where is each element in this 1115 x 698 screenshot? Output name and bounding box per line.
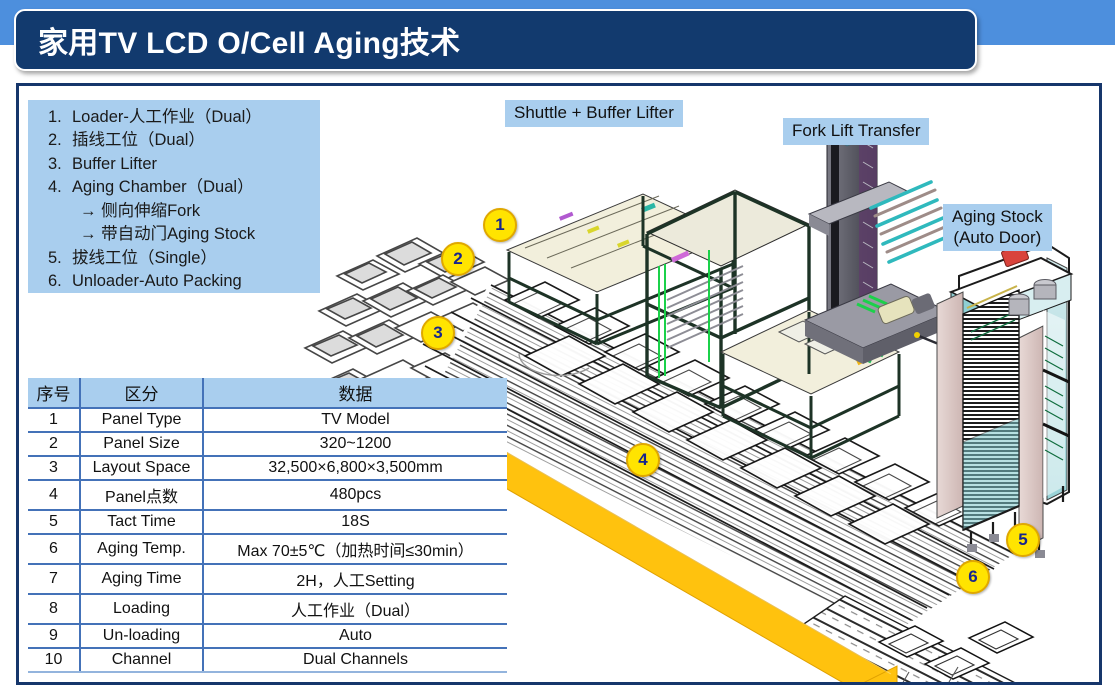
table-row: 1 Panel Type TV Model <box>28 408 507 432</box>
list-subitem: → 带自动门Aging Stock <box>28 223 320 246</box>
list-item-label: 拔线工位（Single） <box>72 247 217 270</box>
table-row: 3 Layout Space 32,500×6,800×3,500mm <box>28 456 507 480</box>
callout-shuttle-buffer-lifter: Shuttle + Buffer Lifter <box>505 100 683 127</box>
cell-no: 10 <box>28 648 80 672</box>
step-marker-1: 1 <box>483 208 517 242</box>
list-item-label: 插线工位（Dual） <box>72 129 205 152</box>
step-marker-5: 5 <box>1006 523 1040 557</box>
list-item: 2. 插线工位（Dual） <box>28 129 320 152</box>
cell-div: Loading <box>80 594 203 624</box>
cell-div: Panel Type <box>80 408 203 432</box>
cell-no: 5 <box>28 510 80 534</box>
cell-no: 4 <box>28 480 80 510</box>
table-header-row: 序号 区分 数据 <box>28 378 507 408</box>
cell-data: 480pcs <box>203 480 507 510</box>
table-row: 7 Aging Time 2H，人工Setting <box>28 564 507 594</box>
cell-div: Layout Space <box>80 456 203 480</box>
list-item: 6. Unloader-Auto Packing <box>28 270 320 293</box>
cell-div: Un-loading <box>80 624 203 648</box>
cell-no: 3 <box>28 456 80 480</box>
slide-title-bar: 家用TV LCD O/Cell Aging技术 <box>14 9 977 71</box>
list-subitem: → 侧向伸缩Fork <box>28 200 320 223</box>
cell-no: 7 <box>28 564 80 594</box>
cell-data: TV Model <box>203 408 507 432</box>
cell-data: 人工作业（Dual） <box>203 594 507 624</box>
column-header-data: 数据 <box>203 378 507 408</box>
page-title: 家用TV LCD O/Cell Aging技术 <box>38 18 460 62</box>
table-row: 9 Un-loading Auto <box>28 624 507 648</box>
slide-content-frame: 1. Loader-人工作业（Dual） 2. 插线工位（Dual） 3. Bu… <box>16 83 1102 685</box>
table-row: 5 Tact Time 18S <box>28 510 507 534</box>
step-marker-4: 4 <box>626 443 660 477</box>
cell-data: Max 70±5℃（加热时间≤30min） <box>203 534 507 564</box>
cell-data: 320~1200 <box>203 432 507 456</box>
cell-no: 9 <box>28 624 80 648</box>
table-row: 10 Channel Dual Channels <box>28 648 507 672</box>
list-item-number: 4. <box>48 176 72 199</box>
cell-data: 18S <box>203 510 507 534</box>
cell-no: 2 <box>28 432 80 456</box>
step-marker-6: 6 <box>956 560 990 594</box>
list-item-label: Buffer Lifter <box>72 153 157 176</box>
list-item: 5. 拔线工位（Single） <box>28 247 320 270</box>
list-item-number: 2. <box>48 129 72 152</box>
cell-data: Dual Channels <box>203 648 507 672</box>
cell-div: Panel点数 <box>80 480 203 510</box>
cell-data: 2H，人工Setting <box>203 564 507 594</box>
table-row: 8 Loading 人工作业（Dual） <box>28 594 507 624</box>
cell-div: Channel <box>80 648 203 672</box>
list-item: 4. Aging Chamber（Dual） <box>28 176 320 199</box>
list-item: 1. Loader-人工作业（Dual） <box>28 106 320 129</box>
column-header-no: 序号 <box>28 378 80 408</box>
cell-div: Tact Time <box>80 510 203 534</box>
cell-no: 6 <box>28 534 80 564</box>
column-header-div: 区分 <box>80 378 203 408</box>
callout-aging-stock: Aging Stock (Auto Door) <box>943 204 1052 251</box>
cell-div: Aging Temp. <box>80 534 203 564</box>
table-row: 4 Panel点数 480pcs <box>28 480 507 510</box>
step-marker-2: 2 <box>441 242 475 276</box>
callout-fork-lift-transfer: Fork Lift Transfer <box>783 118 929 145</box>
table-row: 6 Aging Temp. Max 70±5℃（加热时间≤30min） <box>28 534 507 564</box>
cell-div: Panel Size <box>80 432 203 456</box>
list-item-number: 3. <box>48 153 72 176</box>
list-item-number: 5. <box>48 247 72 270</box>
list-item-label: Loader-人工作业（Dual） <box>72 106 262 129</box>
cell-div: Aging Time <box>80 564 203 594</box>
list-item-label: Aging Chamber（Dual） <box>72 176 254 199</box>
list-item: 3. Buffer Lifter <box>28 153 320 176</box>
cell-data: Auto <box>203 624 507 648</box>
list-item-number: 6. <box>48 270 72 293</box>
list-item-number: 1. <box>48 106 72 129</box>
table-row: 2 Panel Size 320~1200 <box>28 432 507 456</box>
step-marker-3: 3 <box>421 316 455 350</box>
process-step-list: 1. Loader-人工作业（Dual） 2. 插线工位（Dual） 3. Bu… <box>28 100 320 293</box>
list-item-label: Unloader-Auto Packing <box>72 270 242 293</box>
specification-table: 序号 区分 数据 1 Panel Type TV Model 2 Panel S… <box>28 378 507 673</box>
cell-no: 8 <box>28 594 80 624</box>
cell-no: 1 <box>28 408 80 432</box>
cell-data: 32,500×6,800×3,500mm <box>203 456 507 480</box>
